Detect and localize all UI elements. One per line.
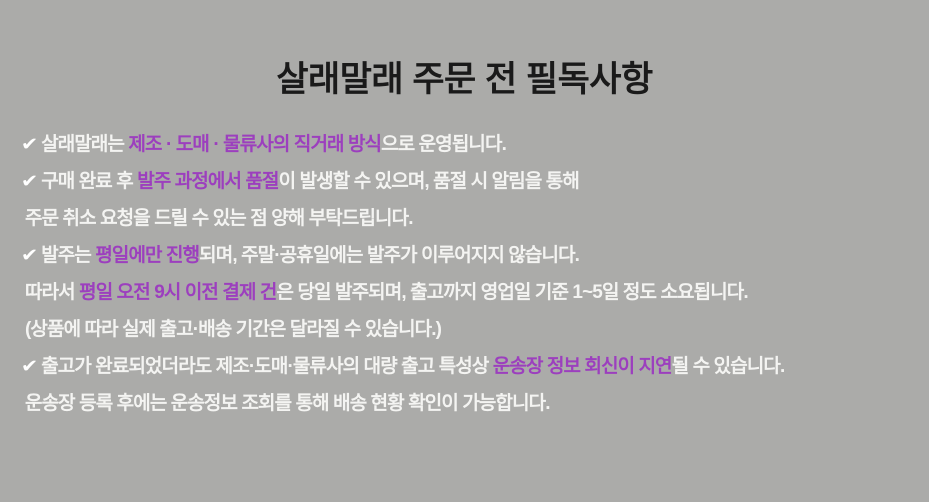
check-icon: ✔ bbox=[21, 126, 37, 163]
notice-text: 이 발생할 수 있으며, 품절 시 알림을 통해 bbox=[279, 171, 579, 192]
notice-line: ✔구매 완료 후 발주 과정에서 품절이 발생할 수 있으며, 품절 시 알림을… bbox=[22, 163, 921, 200]
notice-text: 따라서 bbox=[25, 282, 79, 303]
notice-text: 은 당일 발주되며, 출고까지 영업일 기준 1~5일 정도 소요됩니다. bbox=[277, 282, 748, 303]
notice-banner: 살래말래 주문 전 필독사항 ✔살래말래는 제조 · 도매 · 물류사의 직거래… bbox=[0, 0, 929, 502]
notice-text: 발주는 bbox=[41, 245, 95, 266]
highlighted-text: 운송장 정보 회신이 지연 bbox=[493, 356, 672, 377]
notice-text: 되며, 주말·공휴일에는 발주가 이루어지지 않습니다. bbox=[199, 245, 579, 266]
notice-text: 운송장 등록 후에는 운송정보 조회를 통해 배송 현황 확인이 가능합니다. bbox=[25, 393, 550, 414]
highlighted-text: 발주 과정에서 품절 bbox=[137, 171, 278, 192]
check-icon: ✔ bbox=[21, 163, 37, 200]
notice-line: ✔출고가 완료되었더라도 제조·도매·물류사의 대량 출고 특성상 운송장 정보… bbox=[22, 348, 921, 385]
highlighted-text: 제조 · 도매 · 물류사의 직거래 방식 bbox=[128, 134, 381, 155]
notice-text: 살래말래는 bbox=[41, 134, 128, 155]
notice-line: (상품에 따라 실제 출고·배송 기간은 달라질 수 있습니다.) bbox=[22, 311, 921, 348]
check-icon: ✔ bbox=[21, 348, 37, 385]
notice-line: 주문 취소 요청을 드릴 수 있는 점 양해 부탁드립니다. bbox=[22, 200, 921, 237]
notice-text: 구매 완료 후 bbox=[41, 171, 137, 192]
page-title: 살래말래 주문 전 필독사항 bbox=[0, 0, 929, 102]
notice-line-list: ✔살래말래는 제조 · 도매 · 물류사의 직거래 방식으로 운영됩니다.✔구매… bbox=[0, 126, 929, 422]
notice-text: 출고가 완료되었더라도 제조·도매·물류사의 대량 출고 특성상 bbox=[41, 356, 493, 377]
notice-text: 주문 취소 요청을 드릴 수 있는 점 양해 부탁드립니다. bbox=[25, 208, 413, 229]
notice-line: ✔살래말래는 제조 · 도매 · 물류사의 직거래 방식으로 운영됩니다. bbox=[22, 126, 921, 163]
notice-line: ✔발주는 평일에만 진행되며, 주말·공휴일에는 발주가 이루어지지 않습니다. bbox=[22, 237, 921, 274]
check-icon: ✔ bbox=[21, 237, 37, 274]
notice-text: 될 수 있습니다. bbox=[672, 356, 785, 377]
notice-line: 따라서 평일 오전 9시 이전 결제 건은 당일 발주되며, 출고까지 영업일 … bbox=[22, 274, 921, 311]
notice-line: 운송장 등록 후에는 운송정보 조회를 통해 배송 현황 확인이 가능합니다. bbox=[22, 385, 921, 422]
highlighted-text: 평일에만 진행 bbox=[95, 245, 199, 266]
notice-text: (상품에 따라 실제 출고·배송 기간은 달라질 수 있습니다.) bbox=[25, 319, 441, 340]
notice-text: 으로 운영됩니다. bbox=[381, 134, 506, 155]
highlighted-text: 평일 오전 9시 이전 결제 건 bbox=[79, 282, 276, 303]
